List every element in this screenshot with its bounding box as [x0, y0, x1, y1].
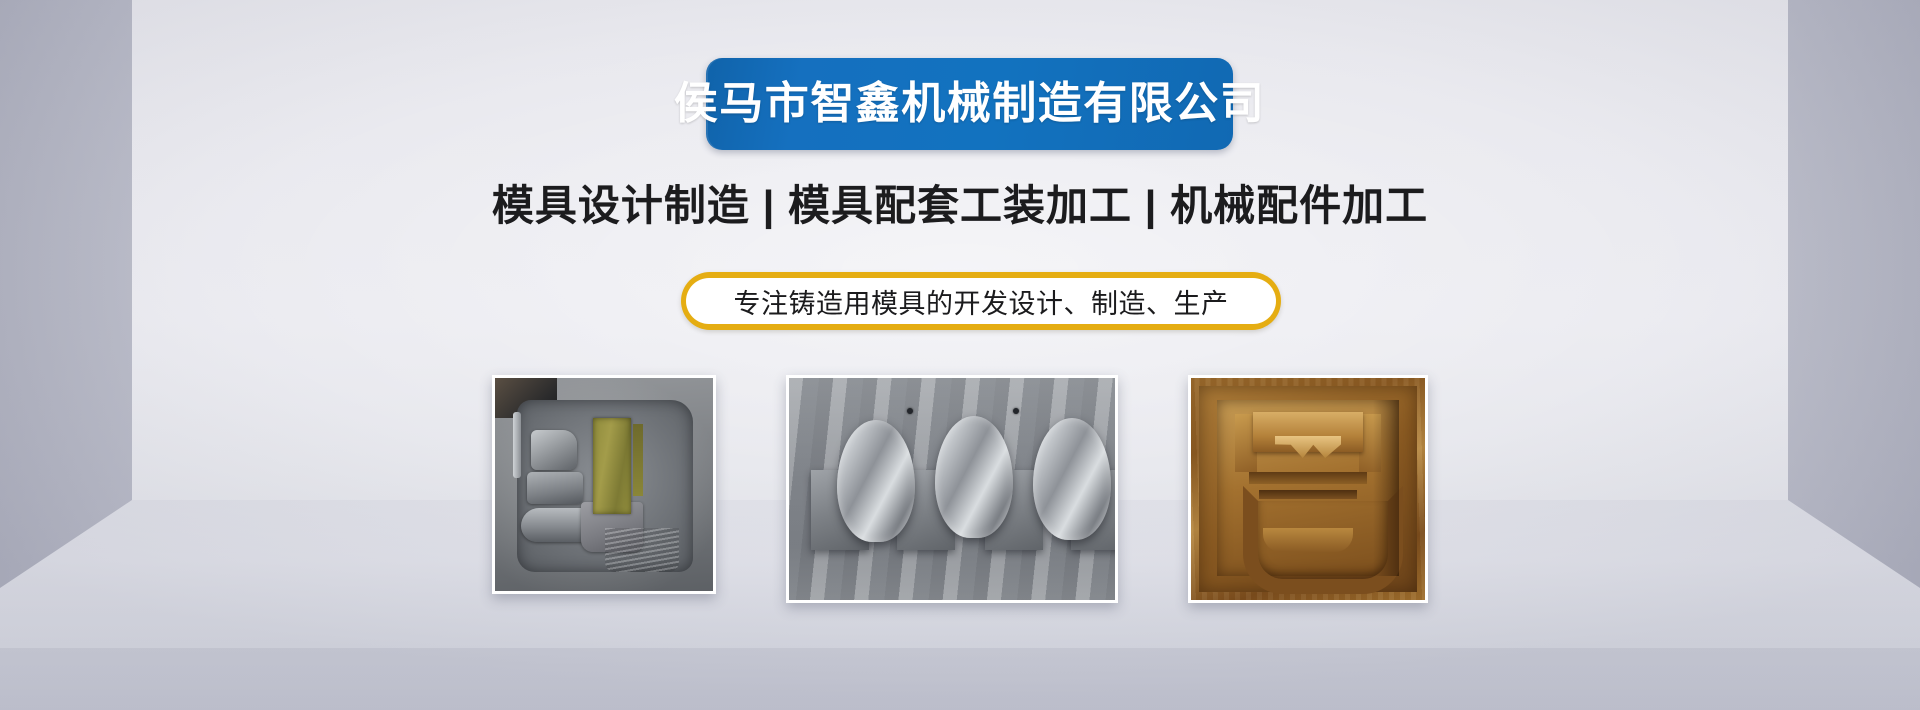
photo2-bore-hole-1: [907, 408, 913, 414]
photo2-lobe-2: [935, 416, 1013, 538]
photo-crankshaft-pattern: [789, 378, 1115, 600]
services-subtitle-text: 模具设计制造 | 模具配套工装加工 | 机械配件加工: [492, 182, 1428, 229]
tagline-text: 专注铸造用模具的开发设计、制造、生产: [734, 282, 1229, 321]
photo1-green-insert-secondary: [633, 424, 643, 496]
photo2-lobe-3: [1033, 418, 1111, 540]
services-subtitle: 模具设计制造 | 模具配套工装加工 | 机械配件加工: [0, 182, 1920, 230]
photo1-machining-marks: [605, 528, 679, 572]
product-gallery: [0, 375, 1920, 603]
photo1-rib: [513, 412, 521, 478]
photo2-lobe-1: [837, 420, 915, 542]
gallery-item-crankshaft-pattern[interactable]: [786, 375, 1118, 603]
photo1-green-insert: [593, 418, 631, 514]
photo-aluminium-die-cavity: [495, 378, 713, 591]
photo1-boss-a: [531, 430, 577, 470]
company-name-badge: 侯马市智鑫机械制造有限公司: [706, 58, 1233, 150]
photo3-cradle: [1263, 528, 1353, 552]
gallery-item-aluminium-die-cavity[interactable]: [492, 375, 716, 594]
banner-stage: 侯马市智鑫机械制造有限公司 模具设计制造 | 模具配套工装加工 | 机械配件加工…: [0, 0, 1920, 710]
tagline-pill: 专注铸造用模具的开发设计、制造、生产: [681, 272, 1281, 330]
photo-wooden-foundry-pattern: [1191, 378, 1425, 600]
photo3-right-shadow: [1373, 400, 1399, 576]
tagline-pill-inner: 专注铸造用模具的开发设计、制造、生产: [686, 278, 1276, 324]
banner-content: 侯马市智鑫机械制造有限公司 模具设计制造 | 模具配套工装加工 | 机械配件加工…: [0, 0, 1920, 710]
photo1-boss-b: [527, 472, 583, 504]
gallery-item-wooden-foundry-pattern[interactable]: [1188, 375, 1428, 603]
photo3-bar-upper: [1249, 472, 1367, 484]
photo2-bore-hole-2: [1013, 408, 1019, 414]
company-name-text: 侯马市智鑫机械制造有限公司: [674, 82, 1266, 126]
